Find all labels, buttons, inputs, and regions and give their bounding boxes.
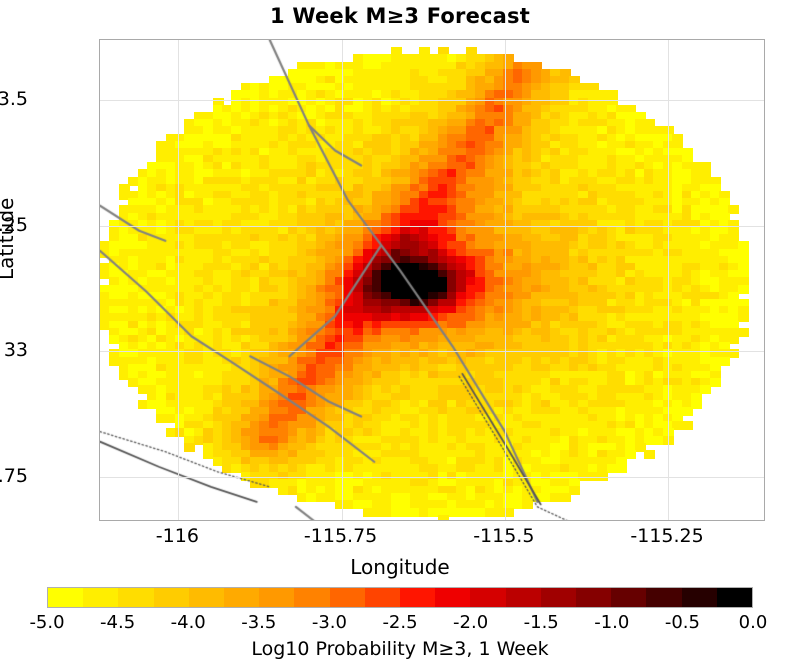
colorbar-swatch-11: [435, 588, 470, 607]
y-tick-33-5: 33.5: [0, 88, 28, 110]
y-axis-label: Latitude: [0, 198, 18, 280]
colorbar[interactable]: [47, 587, 753, 608]
colorbar-swatch-17: [646, 588, 681, 607]
map-canvas-wrap: [100, 40, 764, 520]
colorbar-swatch-13: [506, 588, 541, 607]
gridline-vertical: [505, 40, 506, 520]
colorbar-swatch-10: [400, 588, 435, 607]
colorbar-tick-0: -5.0: [29, 612, 64, 633]
colorbar-tick-10: 0.0: [739, 612, 768, 633]
colorbar-swatch-4: [189, 588, 224, 607]
colorbar-tick-4: -3.0: [312, 612, 347, 633]
y-tick-33: 33: [4, 339, 28, 361]
colorbar-gradient: [47, 587, 753, 608]
colorbar-tick-9: -0.5: [665, 612, 700, 633]
colorbar-swatch-19: [717, 588, 752, 607]
x-tick-116: -116: [156, 525, 199, 547]
page-title: 1 Week M≥3 Forecast: [0, 4, 800, 28]
y-tick-32-75: 32.75: [0, 465, 28, 487]
colorbar-swatch-9: [365, 588, 400, 607]
x-tick-11525: -115.25: [630, 525, 703, 547]
colorbar-swatch-8: [330, 588, 365, 607]
colorbar-tick-1: -4.5: [100, 612, 135, 633]
gridline-horizontal: [100, 100, 764, 101]
colorbar-swatch-1: [83, 588, 118, 607]
colorbar-swatch-14: [541, 588, 576, 607]
colorbar-tick-6: -2.0: [453, 612, 488, 633]
gridline-vertical: [668, 40, 669, 520]
gridline-horizontal: [100, 351, 764, 352]
colorbar-tick-7: -1.5: [524, 612, 559, 633]
x-axis-label: Longitude: [0, 555, 800, 579]
colorbar-swatch-12: [470, 588, 505, 607]
colorbar-tick-3: -3.5: [241, 612, 276, 633]
colorbar-tick-2: -4.0: [171, 612, 206, 633]
gridline-vertical: [178, 40, 179, 520]
colorbar-swatch-6: [259, 588, 294, 607]
colorbar-swatch-16: [611, 588, 646, 607]
colorbar-swatch-2: [118, 588, 153, 607]
gridline-horizontal: [100, 226, 764, 227]
colorbar-tick-8: -1.0: [594, 612, 629, 633]
gridline-horizontal: [100, 477, 764, 478]
colorbar-label: Log10 Probability M≥3, 1 Week: [0, 638, 800, 660]
colorbar-swatch-5: [224, 588, 259, 607]
colorbar-swatch-3: [154, 588, 189, 607]
fault-and-border-overlay: [100, 40, 764, 520]
colorbar-swatch-18: [682, 588, 717, 607]
colorbar-swatch-15: [576, 588, 611, 607]
colorbar-swatch-0: [48, 588, 83, 607]
forecast-map-plot[interactable]: [99, 39, 765, 521]
x-tick-11575: -115.75: [304, 525, 377, 547]
colorbar-swatch-7: [294, 588, 329, 607]
x-tick-1155: -115.5: [473, 525, 534, 547]
colorbar-tick-5: -2.5: [382, 612, 417, 633]
gridline-vertical: [342, 40, 343, 520]
